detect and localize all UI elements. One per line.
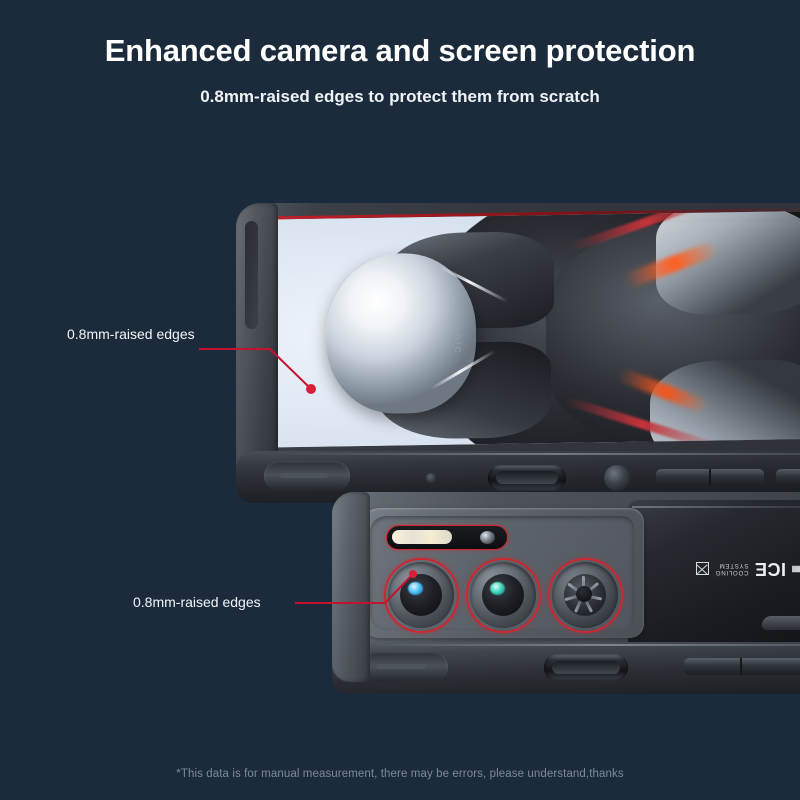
phone-screen-view: REDMAGIC <box>236 203 800 503</box>
brand-cooling-system-text: COOLING SYSTEM <box>715 562 748 577</box>
edge-highlight <box>276 453 800 455</box>
usb-c-port-inner <box>496 471 558 484</box>
volume-rocker-divider <box>709 469 711 486</box>
laser-sensor-icon <box>480 531 495 544</box>
disclaimer-text: *This data is for manual measurement, th… <box>0 768 800 780</box>
round-button-icon <box>604 465 630 491</box>
wallpaper-brand-text: REDMAGIC <box>453 292 462 354</box>
redmagic-logo-icon <box>792 561 800 577</box>
ice-x-cooling-branding: ICE COOLING SYSTEM <box>650 554 800 584</box>
camera-lens-2-glass <box>482 574 524 616</box>
phone-back-view: ICE COOLING SYSTEM <box>332 492 800 702</box>
product-promo-image: Enhanced camera and screen protection 0.… <box>0 0 800 800</box>
brand-sub-line-1: COOLING <box>715 569 748 576</box>
cooling-vent <box>760 616 800 630</box>
fan-hub <box>576 586 592 602</box>
back-edge-highlight <box>368 644 800 646</box>
camera-lens-1-glass <box>400 574 442 616</box>
page-subtitle: 0.8mm-raised edges to protect them from … <box>0 87 800 107</box>
camera-lens-1-reflection <box>408 582 423 595</box>
case-corner-bumper <box>236 203 278 471</box>
camera-lens-2-reflection <box>490 582 505 595</box>
speaker-slot <box>280 473 328 478</box>
brand-sub-line-2: SYSTEM <box>715 562 748 569</box>
volume-rocker-icon <box>684 658 800 675</box>
callout-label-camera-edge: 0.8mm-raised edges <box>133 594 261 610</box>
microphone-hole-icon <box>426 473 436 483</box>
speaker-slot <box>376 664 426 669</box>
brand-ice-text: ICE <box>754 559 786 580</box>
side-button-icon <box>776 469 800 486</box>
back-glass-highlight <box>632 506 800 508</box>
brand-x-badge-icon <box>696 563 709 576</box>
dual-led-flash-icon <box>392 530 452 544</box>
callout-label-screen-edge: 0.8mm-raised edges <box>67 326 195 342</box>
corner-bumper-notch <box>245 221 258 329</box>
usb-c-port-inner <box>552 661 620 674</box>
phone-display: REDMAGIC <box>266 210 800 447</box>
page-title: Enhanced camera and screen protection <box>0 33 800 69</box>
volume-rocker-divider <box>740 658 742 675</box>
back-case-corner-bumper <box>332 492 370 682</box>
